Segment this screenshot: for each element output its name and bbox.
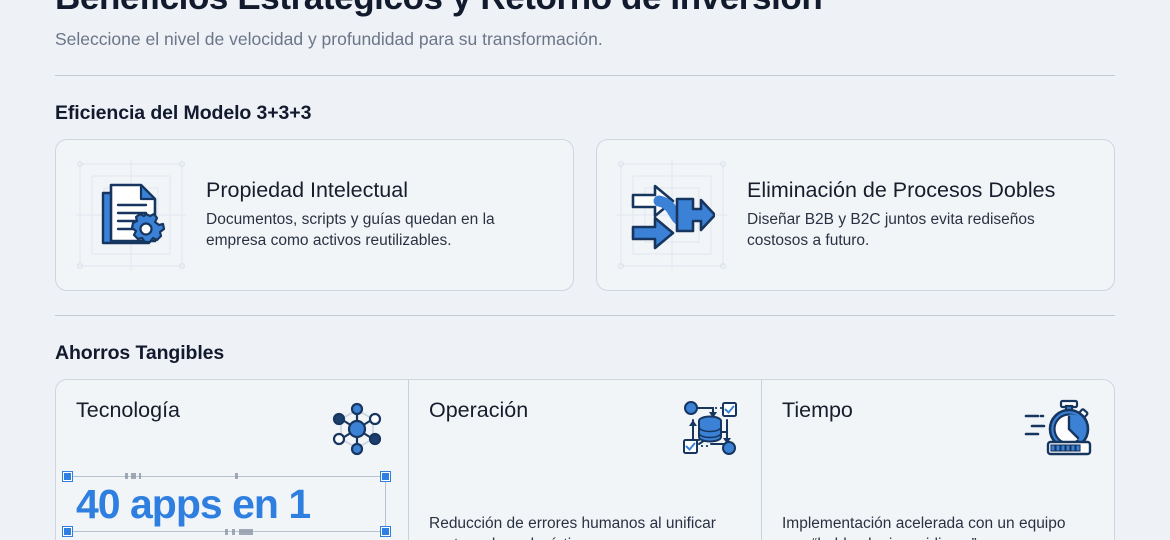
highlight-value[interactable]: 40 apps en 1 — [76, 484, 310, 525]
network-hub-icon — [326, 398, 388, 460]
data-flow-icon — [679, 398, 741, 460]
page-header: Beneficios Estratégicos y Retorno de Inv… — [55, 0, 1115, 51]
savings-column-operacion[interactable]: Operación — [408, 380, 761, 540]
card-description: Diseñar B2B y B2C juntos evita rediseños… — [747, 210, 1096, 252]
stopwatch-icon — [1022, 398, 1094, 460]
savings-column-tiempo[interactable]: Tiempo — [761, 380, 1114, 540]
handle-top-right[interactable] — [381, 472, 390, 481]
card-text: Propiedad Intelectual Documentos, script… — [206, 178, 555, 253]
section-heading-savings: Ahorros Tangibles — [55, 342, 1115, 365]
divider-middle — [55, 315, 1115, 316]
merge-arrows-icon — [629, 175, 715, 255]
page-subtitle: Seleccione el nivel de velocidad y profu… — [55, 28, 1115, 51]
card-description: Documentos, scripts y guías quedan en la… — [206, 210, 555, 252]
section-heading-efficiency: Eficiencia del Modelo 3+3+3 — [55, 102, 1115, 125]
card-text: Eliminación de Procesos Dobles Diseñar B… — [747, 178, 1096, 253]
savings-column-tecnologia[interactable]: Tecnología — [56, 380, 408, 540]
column-description: Reducción de errores humanos al unificar… — [429, 514, 741, 540]
card-title: Propiedad Intelectual — [206, 178, 555, 204]
efficiency-card[interactable]: Propiedad Intelectual Documentos, script… — [55, 139, 574, 291]
slide-root: Beneficios Estratégicos y Retorno de Inv… — [0, 0, 1170, 540]
document-gear-icon — [91, 175, 171, 255]
divider-top — [55, 75, 1115, 76]
card-icon-frame — [70, 154, 192, 276]
page-title: Beneficios Estratégicos y Retorno de Inv… — [55, 0, 1115, 18]
highlight-wrap: 40 apps en 1 — [76, 474, 388, 534]
handle-bottom-left[interactable] — [63, 527, 72, 536]
savings-panel: Tecnología — [55, 379, 1115, 540]
handle-top-left[interactable] — [63, 472, 72, 481]
efficiency-card[interactable]: Eliminación de Procesos Dobles Diseñar B… — [596, 139, 1115, 291]
column-title: Tecnología — [76, 398, 180, 423]
column-header: Operación — [429, 398, 741, 460]
card-icon-frame — [611, 154, 733, 276]
column-title: Tiempo — [782, 398, 853, 423]
efficiency-cards-row: Propiedad Intelectual Documentos, script… — [55, 139, 1115, 291]
column-description: Implementación acelerada con un equipo q… — [782, 514, 1094, 540]
column-title: Operación — [429, 398, 528, 423]
column-header: Tiempo — [782, 398, 1094, 460]
handle-bottom-right[interactable] — [381, 527, 390, 536]
card-title: Eliminación de Procesos Dobles — [747, 178, 1096, 204]
column-header: Tecnología — [76, 398, 388, 460]
